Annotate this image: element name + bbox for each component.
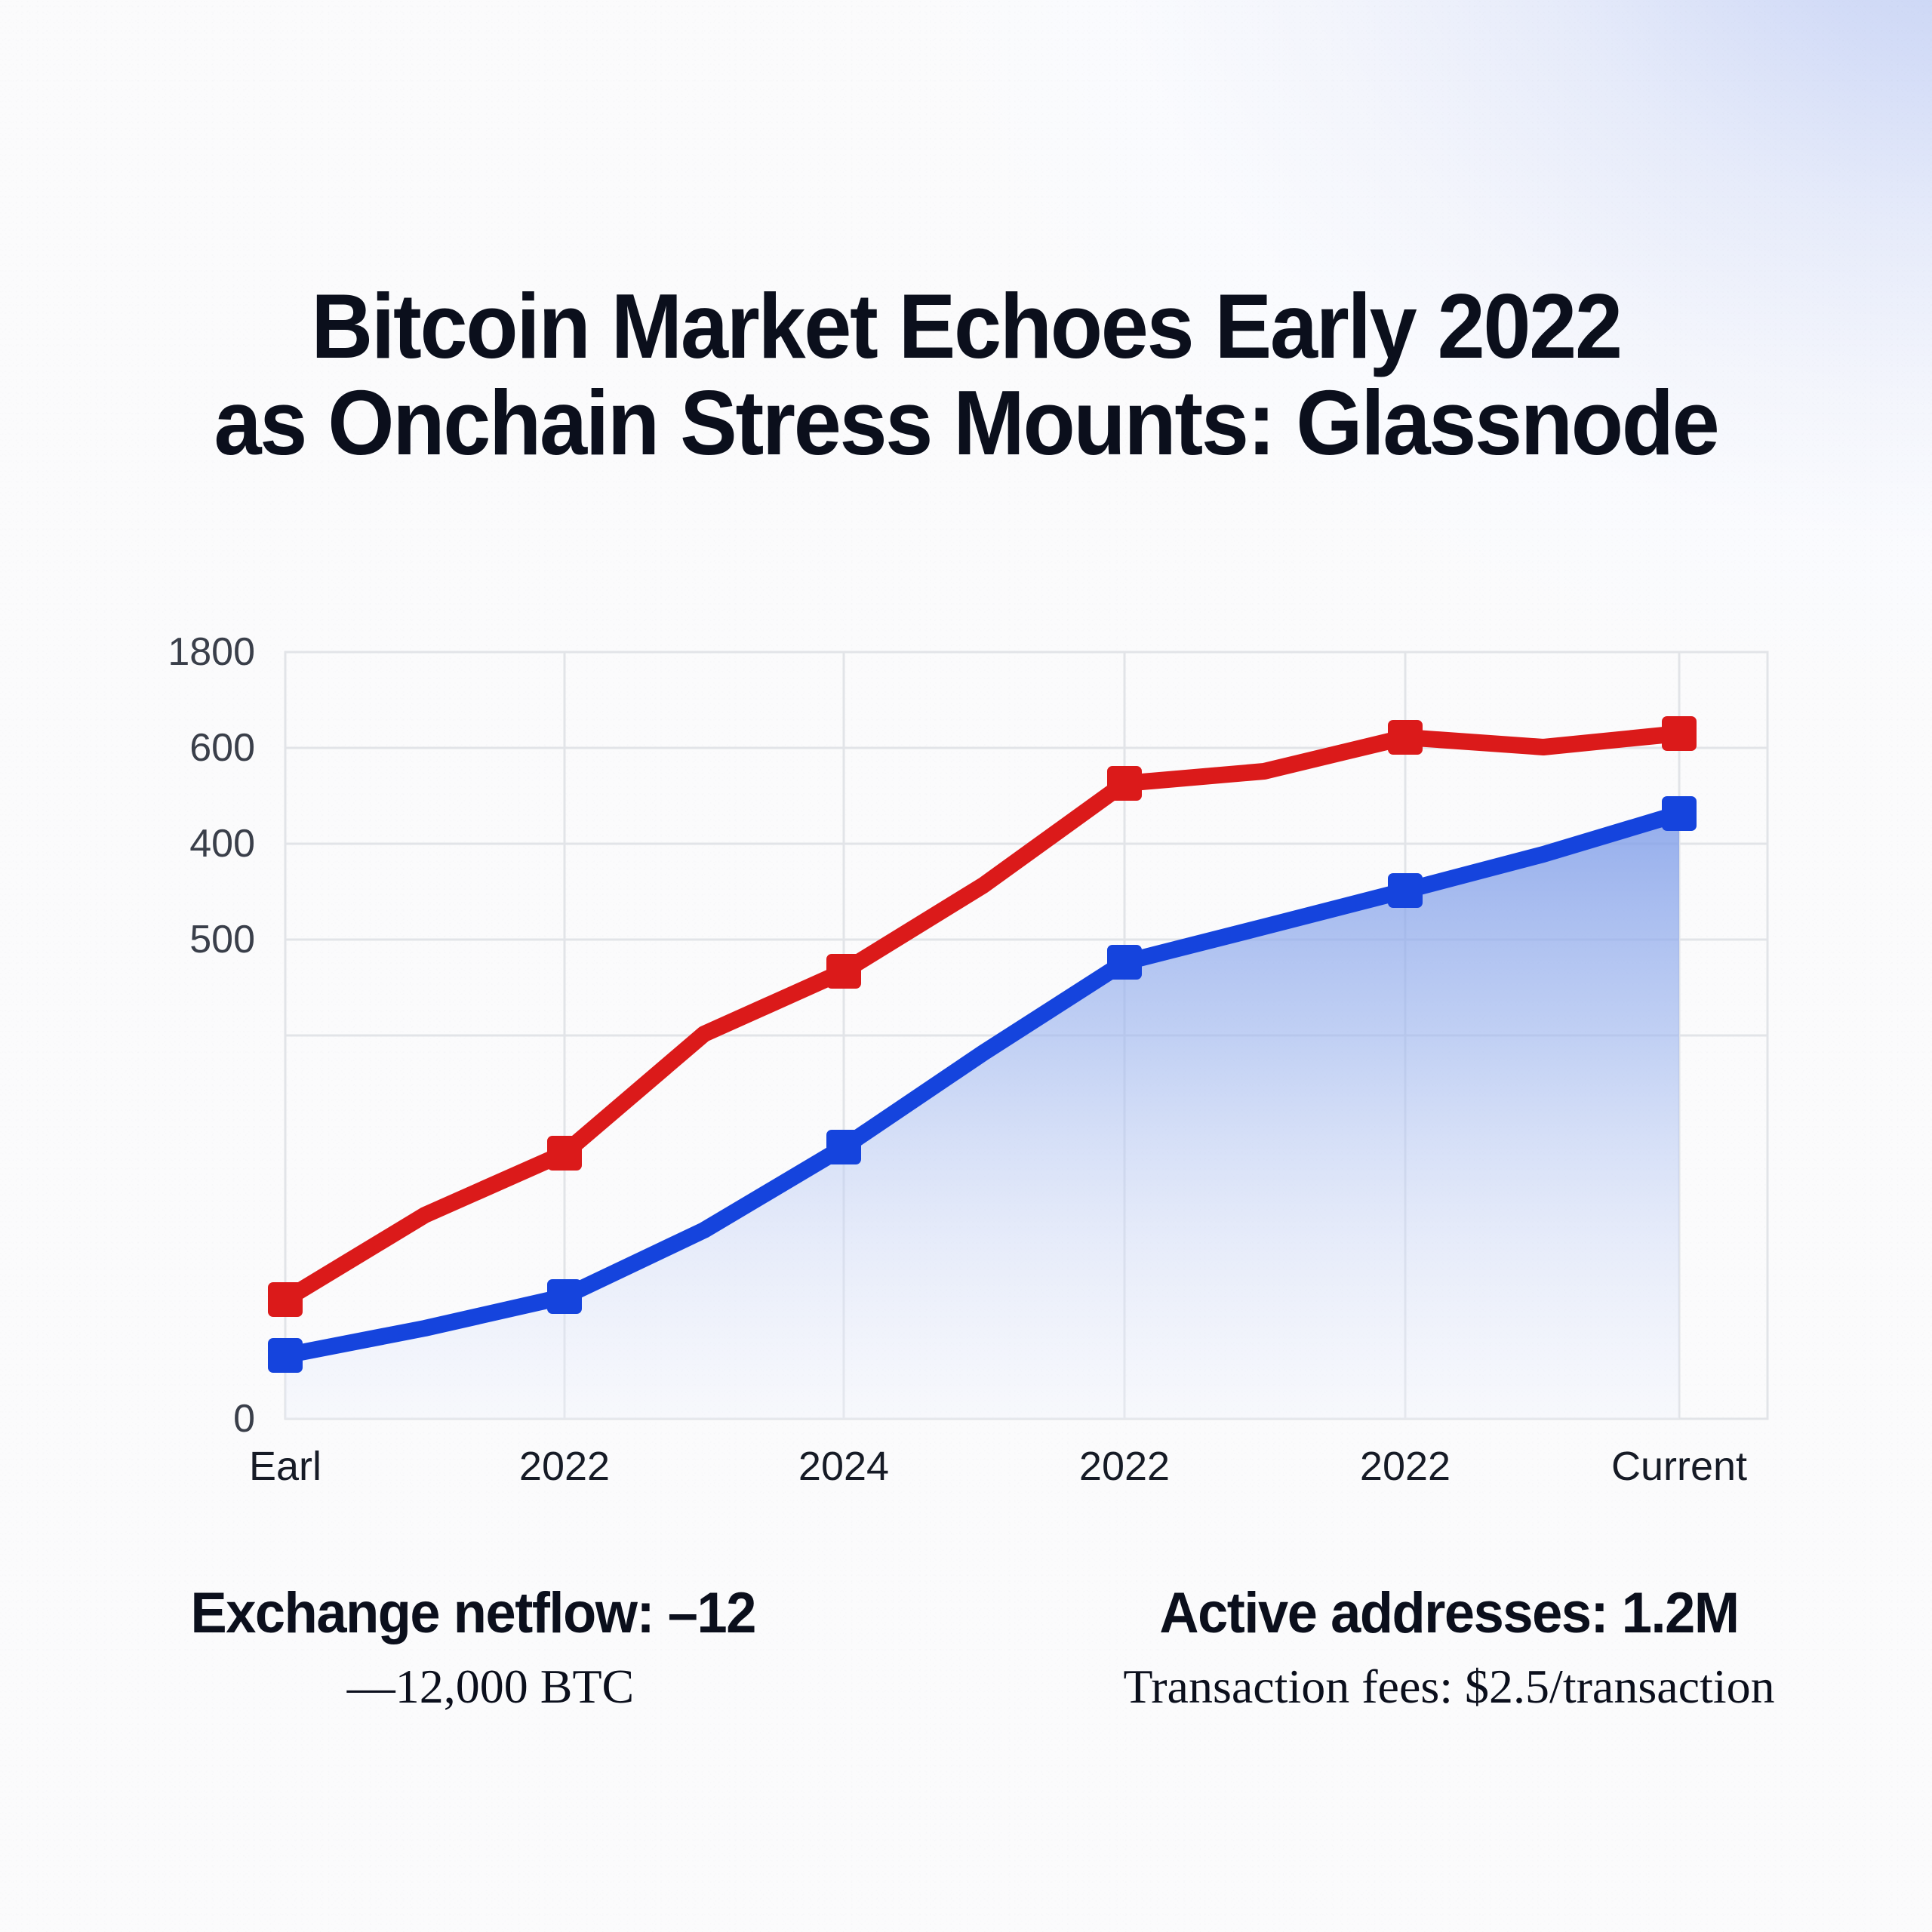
y-axis-tick-3: 500: [98, 917, 255, 962]
poster-title: Bitcoin Market Echoes Early 2022 as Onch…: [0, 278, 1932, 471]
y-axis-tick-2: 400: [98, 821, 255, 866]
x-axis-tick-3: 2022: [1079, 1443, 1170, 1490]
x-axis-tick-1: 2022: [519, 1443, 610, 1490]
poster-canvas: Bitcoin Market Echoes Early 2022 as Onch…: [0, 0, 1932, 1932]
y-axis-tick-0: 1800: [98, 629, 255, 675]
stat-exchange-netflow-sub: —12,000 BTC: [8, 1659, 974, 1715]
x-axis-tick-0: Earl: [249, 1443, 321, 1490]
title-line-1: Bitcoin Market Echoes Early 2022: [68, 278, 1865, 374]
stat-exchange-netflow: Exchange netflow: –12 —12,000 BTC: [0, 1579, 966, 1715]
y-axis-tick-4: 0: [98, 1396, 255, 1441]
stat-active-addresses-headline: Active addresses: 1.2M: [990, 1579, 1908, 1648]
stat-exchange-netflow-headline: Exchange netflow: –12: [14, 1579, 932, 1648]
y-axis-tick-1: 600: [98, 725, 255, 771]
x-axis-tick-4: 2022: [1360, 1443, 1451, 1490]
x-axis-tick-2: 2024: [798, 1443, 889, 1490]
x-axis-tick-5: Current: [1611, 1443, 1747, 1490]
stats-row: Exchange netflow: –12 —12,000 BTC Active…: [0, 1579, 1932, 1715]
title-line-2: as Onchain Stress Mounts: Glassnode: [68, 374, 1865, 471]
chart-area-fill: [285, 814, 1679, 1419]
stat-active-addresses-sub: Transaction fees: $2.5/transaction: [966, 1659, 1932, 1715]
stat-active-addresses: Active addresses: 1.2M Transaction fees:…: [966, 1579, 1932, 1715]
